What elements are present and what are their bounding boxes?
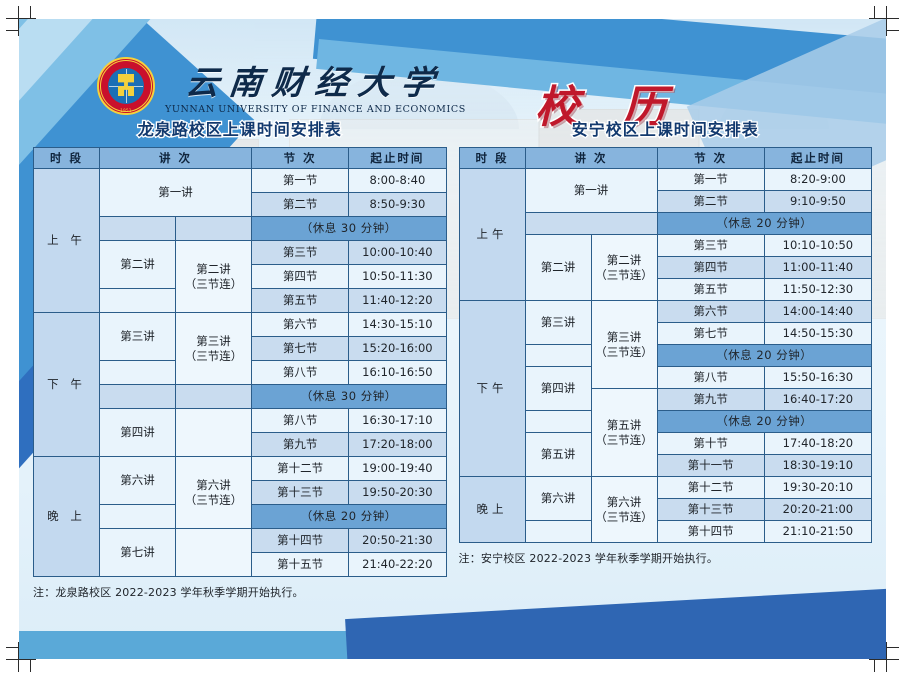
time-cell: 8:20-9:00 bbox=[764, 169, 871, 191]
period-cell: 下午 bbox=[459, 301, 525, 477]
time-cell: 8:50-9:30 bbox=[349, 193, 446, 217]
slot-cell: 第十四节 bbox=[252, 529, 349, 553]
lecture-cell: 第一讲 bbox=[100, 169, 252, 217]
table-header-row: 时 段 讲 次 节 次 起止时间 bbox=[34, 148, 447, 169]
slot-cell: 第五节 bbox=[657, 279, 764, 301]
time-cell: 14:00-14:40 bbox=[764, 301, 871, 323]
col-header-lecture: 讲 次 bbox=[525, 148, 657, 169]
col-header-time: 起止时间 bbox=[764, 148, 871, 169]
slot-cell: 第九节 bbox=[657, 389, 764, 411]
university-logo-block: 1951 云南财经大学 YUNNAN UNIVERSITY OF FINANCE… bbox=[97, 57, 466, 115]
slot-cell: 第一节 bbox=[657, 169, 764, 191]
slot-cell: 第二节 bbox=[657, 191, 764, 213]
lecture-combined-cell: 第六讲 （三节连） bbox=[176, 457, 252, 529]
time-cell: 20:20-21:00 bbox=[764, 499, 871, 521]
table-header-row: 时 段 讲 次 节 次 起止时间 bbox=[459, 148, 872, 169]
slot-cell: 第七节 bbox=[657, 323, 764, 345]
slot-cell: 第九节 bbox=[252, 433, 349, 457]
time-cell: 17:20-18:00 bbox=[349, 433, 446, 457]
rest-cell: （休息 20 分钟） bbox=[657, 213, 871, 235]
slot-cell: 第八节 bbox=[252, 409, 349, 433]
rest-cell: （休息 30 分钟） bbox=[252, 385, 446, 409]
blank-cell bbox=[176, 385, 252, 409]
time-cell: 10:00-10:40 bbox=[349, 241, 446, 265]
slot-cell: 第五节 bbox=[252, 289, 349, 313]
time-cell: 19:30-20:10 bbox=[764, 477, 871, 499]
time-cell: 11:00-11:40 bbox=[764, 257, 871, 279]
slot-cell: 第二节 bbox=[252, 193, 349, 217]
note-anning: 注：安宁校区 2022-2023 学年秋季学期开始执行。 bbox=[459, 550, 873, 566]
university-seal-icon: 1951 bbox=[97, 57, 155, 115]
lecture-combined-cell: 第三讲 （三节连） bbox=[591, 301, 657, 389]
slot-cell: 第七节 bbox=[252, 337, 349, 361]
lecture-cell: 第三讲 bbox=[100, 313, 176, 361]
time-cell: 10:50-11:30 bbox=[349, 265, 446, 289]
rest-cell: （休息 20 分钟） bbox=[657, 345, 871, 367]
time-cell: 15:20-16:00 bbox=[349, 337, 446, 361]
time-cell: 16:30-17:10 bbox=[349, 409, 446, 433]
poster-canvas: 1951 云南财经大学 YUNNAN UNIVERSITY OF FINANCE… bbox=[19, 19, 886, 659]
schedule-table-anning: 时 段 讲 次 节 次 起止时间 上午 第一讲 第一节 8:20-9:00 bbox=[459, 147, 873, 543]
time-cell: 11:40-12:20 bbox=[349, 289, 446, 313]
seal-year-label: 1951 bbox=[97, 108, 155, 113]
crop-mark-bottom-left bbox=[6, 659, 36, 660]
time-cell: 16:40-17:20 bbox=[764, 389, 871, 411]
section-title-longquanlu: 龙泉路校区上课时间安排表 bbox=[33, 119, 447, 141]
time-cell: 8:00-8:40 bbox=[349, 169, 446, 193]
university-name-en: YUNNAN UNIVERSITY OF FINANCE AND ECONOMI… bbox=[165, 104, 466, 115]
blank-cell bbox=[525, 521, 591, 543]
slot-cell: 第八节 bbox=[252, 361, 349, 385]
time-cell: 11:50-12:30 bbox=[764, 279, 871, 301]
blank-cell bbox=[176, 409, 252, 457]
note-longquanlu: 注：龙泉路校区 2022-2023 学年秋季学期开始执行。 bbox=[33, 584, 447, 600]
time-cell: 16:10-16:50 bbox=[349, 361, 446, 385]
period-cell: 上午 bbox=[459, 169, 525, 301]
table-row: 下 午 第三讲 第三讲 （三节连） 第六节 14:30-15:10 bbox=[34, 313, 447, 337]
col-header-period: 时 段 bbox=[459, 148, 525, 169]
time-cell: 19:00-19:40 bbox=[349, 457, 446, 481]
col-header-time: 起止时间 bbox=[349, 148, 446, 169]
slot-cell: 第十三节 bbox=[657, 499, 764, 521]
period-cell: 晚 上 bbox=[34, 457, 100, 577]
period-cell: 晚上 bbox=[459, 477, 525, 543]
blank-cell bbox=[100, 361, 176, 385]
time-cell: 20:50-21:30 bbox=[349, 529, 446, 553]
blank-cell bbox=[525, 345, 591, 367]
lecture-cell: 第六讲 bbox=[525, 477, 591, 521]
blank-cell bbox=[525, 213, 657, 235]
blank-cell bbox=[176, 217, 252, 241]
time-cell: 19:50-20:30 bbox=[349, 481, 446, 505]
slot-cell: 第六节 bbox=[252, 313, 349, 337]
time-cell: 21:40-22:20 bbox=[349, 553, 446, 577]
lecture-combined-cell: 第五讲 （三节连） bbox=[591, 389, 657, 477]
period-cell: 下 午 bbox=[34, 313, 100, 457]
section-title-anning: 安宁校区上课时间安排表 bbox=[459, 119, 873, 141]
lecture-cell: 第五讲 bbox=[525, 433, 591, 477]
lecture-cell: 第七讲 bbox=[100, 529, 176, 577]
rest-cell: （休息 30 分钟） bbox=[252, 217, 446, 241]
slot-cell: 第十五节 bbox=[252, 553, 349, 577]
blank-cell bbox=[176, 529, 252, 577]
time-cell: 14:30-15:10 bbox=[349, 313, 446, 337]
rest-cell: （休息 20 分钟） bbox=[252, 505, 446, 529]
period-cell: 上 午 bbox=[34, 169, 100, 313]
lecture-cell: 第二讲 bbox=[525, 235, 591, 301]
table-row: 晚 上 第六讲 第六讲 （三节连） 第十二节 19:00-19:40 bbox=[34, 457, 447, 481]
lecture-cell: 第四讲 bbox=[525, 367, 591, 411]
slot-cell: 第三节 bbox=[657, 235, 764, 257]
table-row: 上 午 第一讲 第一节 8:00-8:40 bbox=[34, 169, 447, 193]
lecture-cell: 第六讲 bbox=[100, 457, 176, 505]
blank-cell bbox=[525, 411, 591, 433]
lecture-cell: 第四讲 bbox=[100, 409, 176, 457]
slot-cell: 第十二节 bbox=[657, 477, 764, 499]
time-cell: 15:50-16:30 bbox=[764, 367, 871, 389]
crop-mark-top-right bbox=[886, 6, 887, 36]
time-cell: 9:10-9:50 bbox=[764, 191, 871, 213]
table-row: 晚上 第六讲 第六讲 （三节连） 第十二节 19:30-20:10 bbox=[459, 477, 872, 499]
campus-column-anning: 安宁校区上课时间安排表 时 段 讲 次 节 次 起止时间 bbox=[459, 119, 873, 600]
slot-cell: 第十一节 bbox=[657, 455, 764, 477]
lecture-combined-cell: 第二讲 （三节连） bbox=[176, 241, 252, 313]
lecture-combined-cell: 第三讲 （三节连） bbox=[176, 313, 252, 385]
campus-column-longquanlu: 龙泉路校区上课时间安排表 时 段 讲 次 节 次 起止时间 bbox=[33, 119, 447, 600]
slot-cell: 第四节 bbox=[252, 265, 349, 289]
blank-cell bbox=[100, 217, 176, 241]
blank-cell bbox=[100, 289, 176, 313]
lecture-combined-cell: 第二讲 （三节连） bbox=[591, 235, 657, 301]
slot-cell: 第八节 bbox=[657, 367, 764, 389]
time-cell: 17:40-18:20 bbox=[764, 433, 871, 455]
slot-cell: 第四节 bbox=[657, 257, 764, 279]
slot-cell: 第三节 bbox=[252, 241, 349, 265]
lecture-combined-cell: 第六讲 （三节连） bbox=[591, 477, 657, 543]
col-header-slot: 节 次 bbox=[252, 148, 349, 169]
time-cell: 21:10-21:50 bbox=[764, 521, 871, 543]
university-name-cn: 云南财经大学 bbox=[185, 66, 447, 101]
col-header-lecture: 讲 次 bbox=[100, 148, 252, 169]
table-row: 下午 第三讲 第三讲 （三节连） 第六节 14:00-14:40 bbox=[459, 301, 872, 323]
blank-cell bbox=[100, 385, 176, 409]
col-header-slot: 节 次 bbox=[657, 148, 764, 169]
time-cell: 10:10-10:50 bbox=[764, 235, 871, 257]
blank-cell bbox=[100, 505, 176, 529]
schedule-columns: 龙泉路校区上课时间安排表 时 段 讲 次 节 次 起止时间 bbox=[19, 119, 886, 600]
time-cell: 14:50-15:30 bbox=[764, 323, 871, 345]
lecture-cell: 第三讲 bbox=[525, 301, 591, 345]
schedule-table-longquanlu: 时 段 讲 次 节 次 起止时间 上 午 第一讲 第一节 8:00-8:4 bbox=[33, 147, 447, 577]
lecture-cell: 第一讲 bbox=[525, 169, 657, 213]
slot-cell: 第六节 bbox=[657, 301, 764, 323]
slot-cell: 第十二节 bbox=[252, 457, 349, 481]
slot-cell: 第一节 bbox=[252, 169, 349, 193]
poster-root: 1951 云南财经大学 YUNNAN UNIVERSITY OF FINANCE… bbox=[0, 0, 905, 678]
time-cell: 18:30-19:10 bbox=[764, 455, 871, 477]
col-header-period: 时 段 bbox=[34, 148, 100, 169]
rest-cell: （休息 20 分钟） bbox=[657, 411, 871, 433]
slot-cell: 第十节 bbox=[657, 433, 764, 455]
slot-cell: 第十三节 bbox=[252, 481, 349, 505]
lecture-cell: 第二讲 bbox=[100, 241, 176, 289]
table-row: 上午 第一讲 第一节 8:20-9:00 bbox=[459, 169, 872, 191]
slot-cell: 第十四节 bbox=[657, 521, 764, 543]
